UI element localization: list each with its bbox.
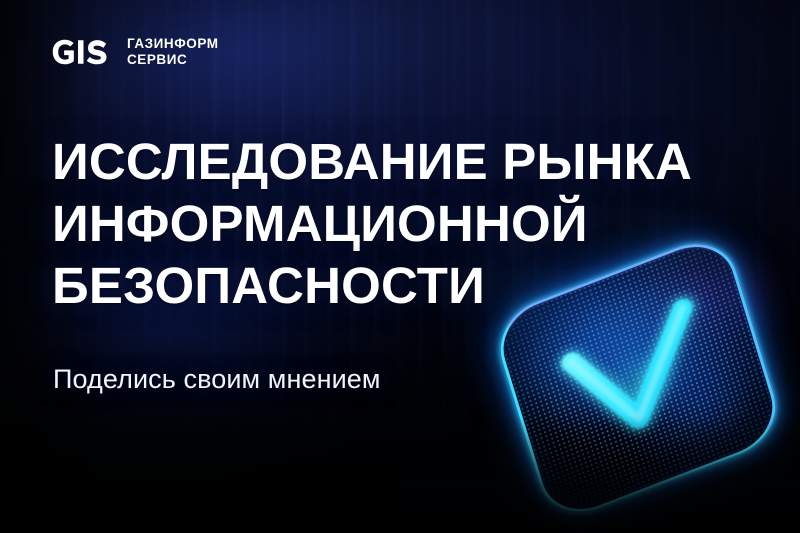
page-title: ИССЛЕДОВАНИЕ РЫНКА ИНФОРМАЦИОННОЙ БЕЗОПА… bbox=[52, 131, 692, 317]
headline-line-1: ИССЛЕДОВАНИЕ РЫНКА bbox=[52, 131, 692, 193]
subtitle: Поделись своим мнением bbox=[53, 364, 381, 395]
headline-line-3: БЕЗОПАСНОСТИ bbox=[52, 255, 692, 317]
brand-name: ГАЗИНФОРМ СЕРВИС bbox=[127, 36, 219, 68]
brand-logo[interactable]: ГАЗИНФОРМ СЕРВИС bbox=[52, 36, 219, 68]
brand-name-line-2: СЕРВИС bbox=[127, 52, 219, 68]
brand-name-line-1: ГАЗИНФОРМ bbox=[127, 36, 219, 52]
promo-banner: ГАЗИНФОРМ СЕРВИС ИССЛЕДОВАНИЕ РЫНКА ИНФО… bbox=[0, 0, 800, 533]
gis-logo-mark bbox=[52, 39, 114, 65]
headline-line-2: ИНФОРМАЦИОННОЙ bbox=[52, 193, 692, 255]
